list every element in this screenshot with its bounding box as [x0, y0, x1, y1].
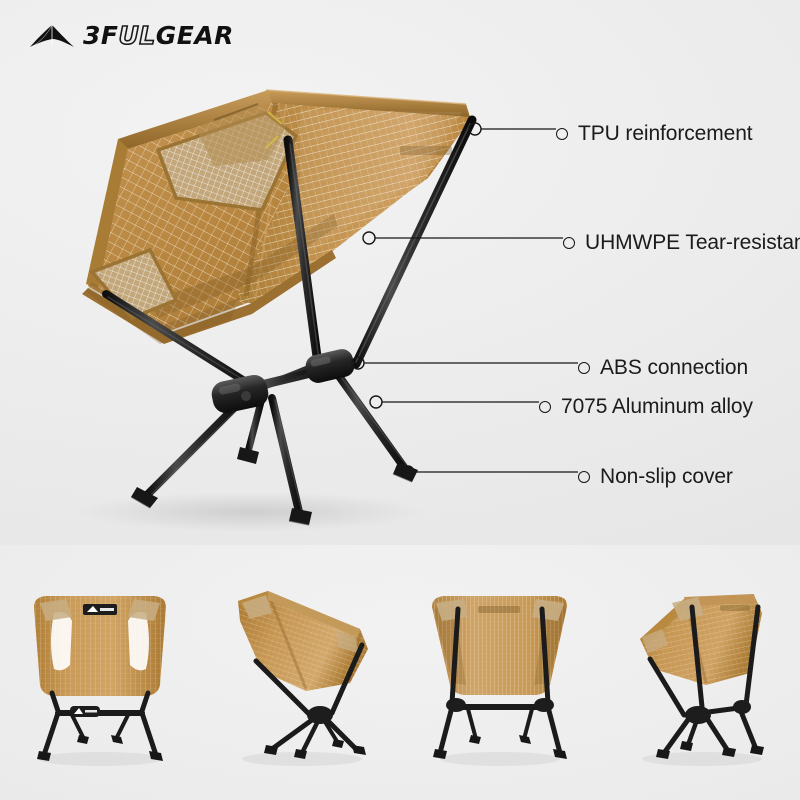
chair-front-icon	[10, 573, 190, 773]
foot-center-short	[237, 447, 259, 464]
callout-label-uhmwpe: UHMWPE Tear-resistant fabric	[585, 232, 800, 253]
callout-dot-tpu	[556, 128, 568, 140]
leg-rear-right	[336, 372, 406, 470]
callout-label-abs: ABS connection	[600, 357, 748, 378]
callout-uhmwpe-fabric[interactable]: UHMWPE Tear-resistant fabric	[563, 232, 800, 253]
callout-label-nonslip: Non-slip cover	[600, 466, 733, 487]
thumbnail-strip	[0, 545, 800, 800]
callout-dot-uhmwpe	[563, 237, 575, 249]
callout-dot-abs	[578, 362, 590, 374]
main-product-image	[0, 0, 800, 545]
callout-dot-aluminum	[539, 401, 551, 413]
anchor-dot-uhmwpe	[363, 232, 375, 244]
chair-rear-icon	[410, 573, 590, 773]
callout-tpu-reinforcement[interactable]: TPU reinforcement	[556, 123, 753, 144]
callout-dot-nonslip	[578, 471, 590, 483]
callout-non-slip-cover[interactable]: Non-slip cover	[578, 466, 733, 487]
anchor-dot-aluminum	[370, 396, 382, 408]
ground-shadow	[75, 492, 425, 532]
abs-hub-right	[303, 347, 356, 385]
chair-angled-icon	[210, 573, 390, 773]
thumb-front-view[interactable]	[0, 545, 200, 800]
chair-fabric	[82, 90, 470, 344]
callout-aluminum-alloy[interactable]: 7075 Aluminum alloy	[539, 396, 753, 417]
thumb-rear-view[interactable]	[400, 545, 600, 800]
infographic-page: 3FULGEAR	[0, 0, 800, 800]
callout-label-tpu: TPU reinforcement	[578, 123, 753, 144]
chair-side-icon	[610, 573, 790, 773]
thumb-side-view[interactable]	[600, 545, 800, 800]
callout-abs-connection[interactable]: ABS connection	[578, 357, 748, 378]
callout-label-aluminum: 7075 Aluminum alloy	[561, 396, 753, 417]
thumb-angled-view[interactable]	[200, 545, 400, 800]
